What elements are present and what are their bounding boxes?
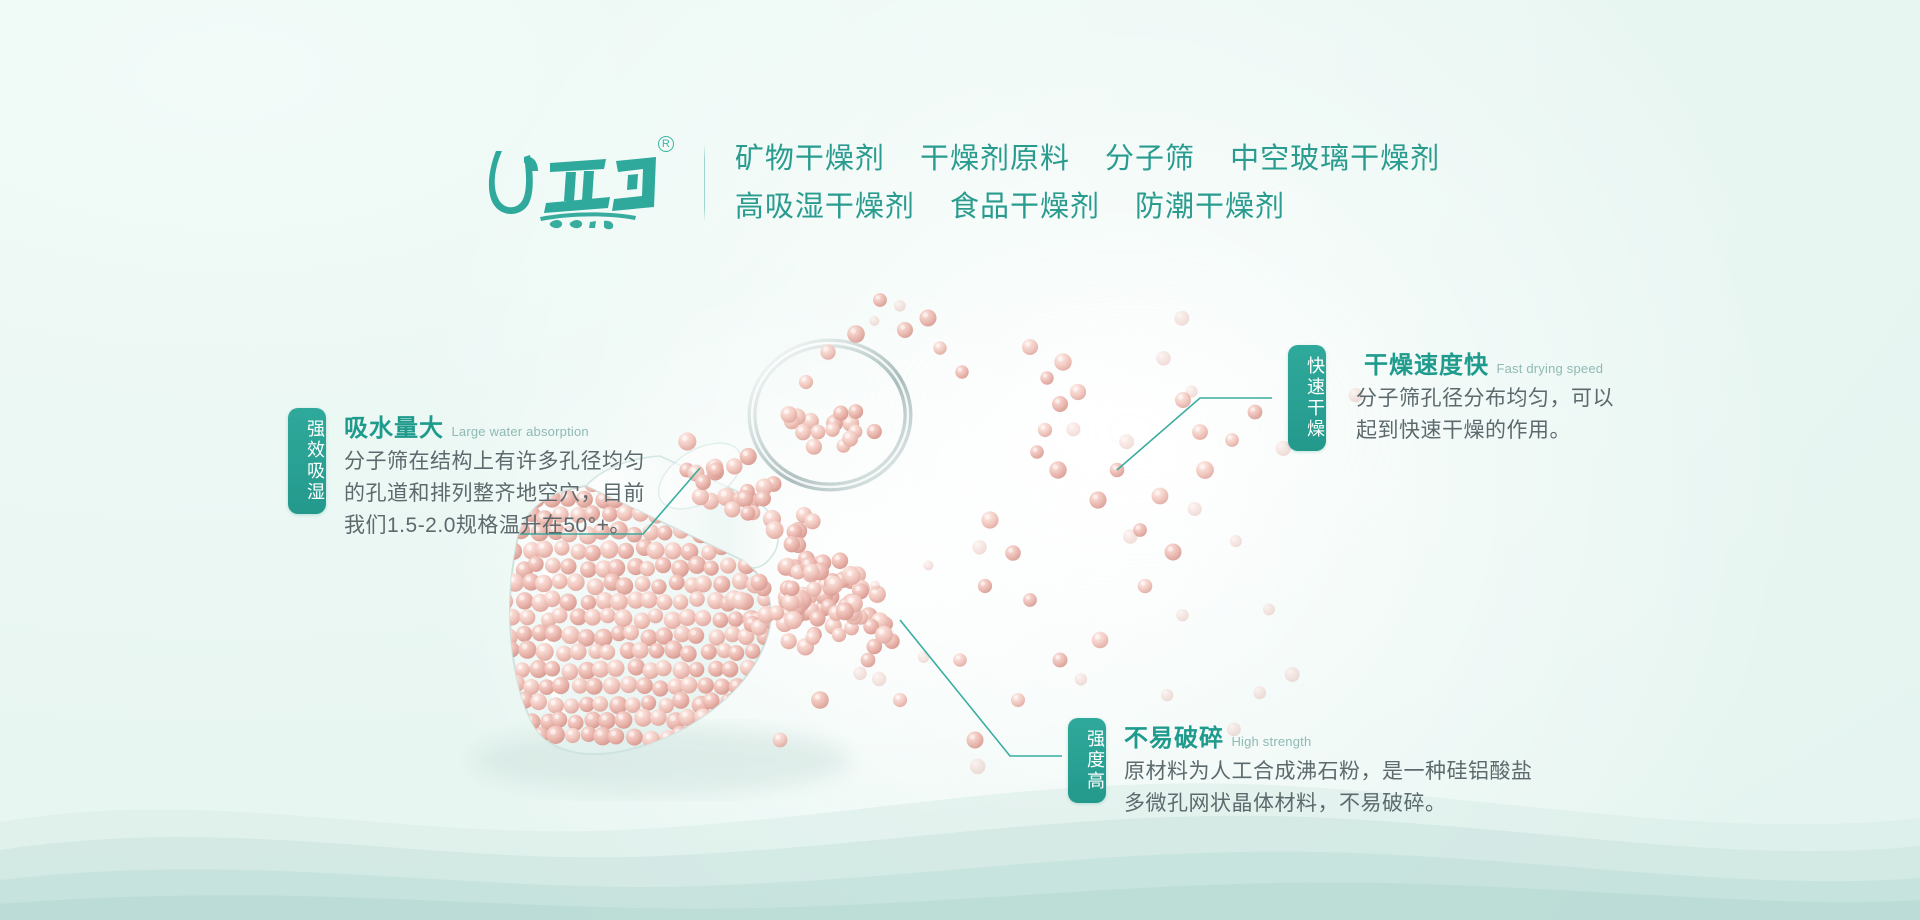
callout-fast-drying-speed: 快速干燥 干燥速度快 Fast drying speed 分子筛孔径分布均匀，可… [1288, 345, 1686, 451]
callout-bottom-tag: 强度高 [1068, 718, 1106, 803]
callout-left-body: 分子筛在结构上有许多孔径均匀 的孔道和排列整齐地空穴，目前 我们1.5-2.0规… [344, 446, 674, 542]
header-keyword-desiccant-raw-material[interactable]: 干燥剂原料 [920, 143, 1070, 175]
callout-right-body: 分子筛孔径分布均匀，可以 起到快速干燥的作用。 [1356, 383, 1686, 447]
header-keyword-mineral-desiccant[interactable]: 矿物干燥剂 [735, 143, 885, 175]
header-keyword-insulating-glass-desiccant[interactable]: 中空玻璃干燥剂 [1230, 143, 1440, 175]
callout-bottom-title-en: High strength [1231, 734, 1311, 749]
callout-right-title-en: Fast drying speed [1496, 361, 1603, 376]
header-keyword-food-desiccant[interactable]: 食品干燥剂 [950, 191, 1100, 223]
header-keyword-molecular-sieve[interactable]: 分子筛 [1105, 143, 1195, 175]
callout-left-title-en: Large water absorption [451, 424, 588, 439]
header-keyword-moisture-proof-desiccant[interactable]: 防潮干燥剂 [1135, 191, 1285, 223]
header-keyword-row-1: 矿物干燥剂 干燥剂原料 分子筛 中空玻璃干燥剂 [735, 135, 1440, 183]
header-divider [704, 144, 705, 222]
banner-header: R [0, 128, 1920, 238]
callout-right-title-zh: 干燥速度快 [1364, 352, 1489, 379]
callout-right-heading: 干燥速度快 Fast drying speed [1364, 345, 1686, 380]
callout-left-title-zh: 吸水量大 [344, 415, 444, 442]
callout-bottom-title-zh: 不易破碎 [1124, 725, 1224, 752]
header-keyword-row-2: 高吸湿干燥剂 食品干燥剂 防潮干燥剂 [735, 183, 1440, 231]
bottle-cap-ring [752, 343, 908, 487]
callout-left-tag: 强效吸湿 [288, 408, 326, 514]
callout-large-water-absorption: 强效吸湿 吸水量大 Large water absorption 分子筛在结构上… [288, 408, 674, 542]
registered-trademark-icon: R [658, 135, 674, 152]
callout-high-strength: 强度高 不易破碎 High strength 原材料为人工合成沸石粉，是一种硅铝… [1068, 718, 1554, 820]
header-keyword-list: 矿物干燥剂 干燥剂原料 分子筛 中空玻璃干燥剂 高吸湿干燥剂 食品干燥剂 防潮干… [735, 135, 1440, 231]
banner-canvas: R [0, 0, 1920, 920]
header-keyword-high-absorption-desiccant[interactable]: 高吸湿干燥剂 [735, 191, 915, 223]
decorative-waves [0, 690, 1920, 920]
callout-right-tag: 快速干燥 [1288, 345, 1326, 451]
callout-bottom-heading: 不易破碎 High strength [1124, 718, 1554, 753]
callout-left-heading: 吸水量大 Large water absorption [344, 408, 674, 443]
yaad-logo[interactable]: R [480, 131, 680, 235]
callout-bottom-body: 原材料为人工合成沸石粉，是一种硅铝酸盐 多微孔网状晶体材料，不易破碎。 [1124, 756, 1554, 820]
